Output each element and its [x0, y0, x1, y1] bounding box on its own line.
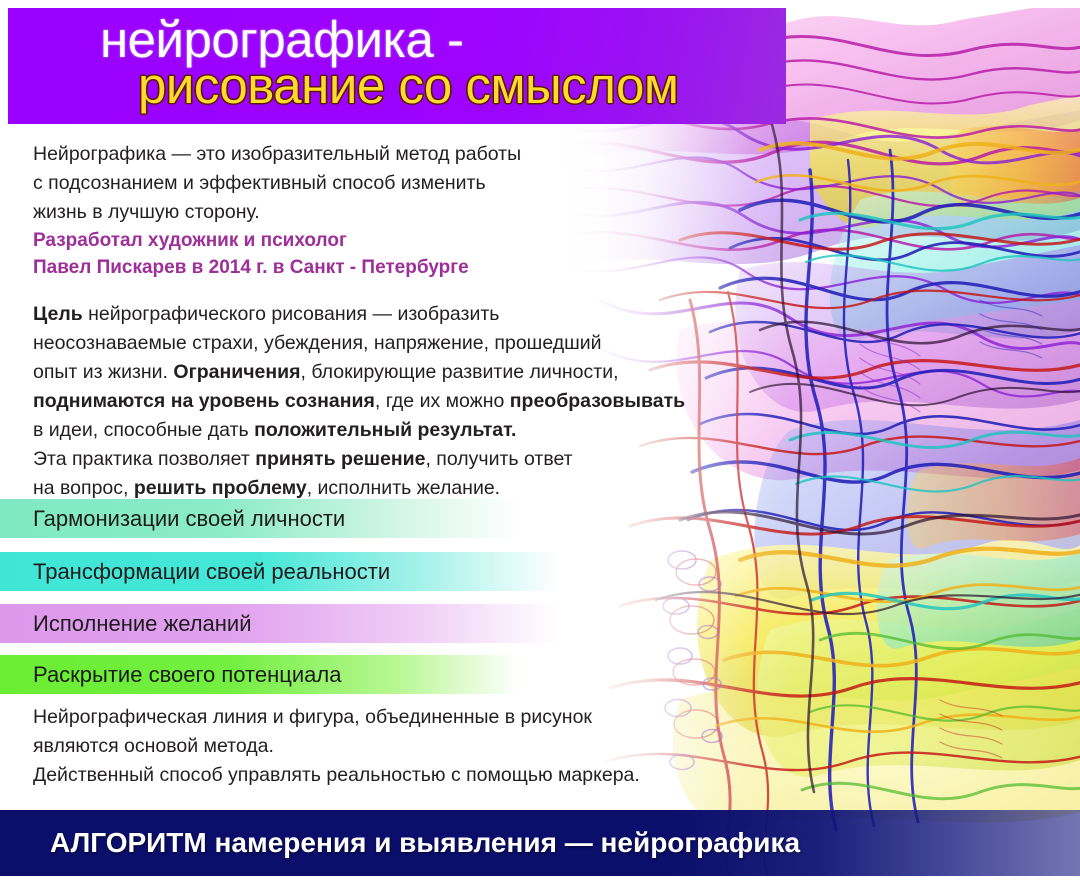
- goal-keyword-rise: поднимаются на уровень сознания: [33, 390, 375, 412]
- poster-header: нейрографика - рисование со смыслом: [8, 8, 786, 124]
- poster-footer: АЛГОРИТМ намерения и выявления — нейрогр…: [0, 810, 1080, 876]
- goal-line-3-b: , блокирующие развитие личности,: [301, 361, 619, 383]
- intro-paragraph: Нейрографика — это изобразительный метод…: [33, 140, 521, 227]
- goal-line-6-a: Эта практика позволяет: [33, 448, 255, 470]
- goal-line-6-b: , получить ответ: [425, 448, 572, 470]
- title-line-2: рисование со смыслом: [138, 56, 678, 115]
- benefit-bar-2-label: Трансформации своей реальности: [33, 561, 390, 583]
- closing-paragraph: Нейрографическая линия и фигура, объедин…: [33, 703, 640, 790]
- credit-line-2: Павел Пискарев в 2014 г. в Санкт - Петер…: [33, 254, 469, 281]
- benefit-bar-4-label: Раскрытие своего потенциала: [33, 664, 341, 686]
- benefit-bar-wishes: Исполнение желаний: [0, 604, 560, 643]
- tail-line-3: Действенный способ управлять реальностью…: [33, 761, 640, 790]
- intro-line-1: Нейрографика — это изобразительный метод…: [33, 140, 521, 169]
- intro-line-3: жизнь в лучшую сторону.: [33, 198, 521, 227]
- goal-keyword-transform: преобразовывать: [510, 390, 685, 412]
- intro-line-2: с подсознанием и эффективный способ изме…: [33, 169, 521, 198]
- goal-keyword-result: положительный результат.: [254, 419, 516, 441]
- goal-line-4: поднимаются на уровень сознания, где их …: [33, 387, 685, 416]
- top-white-strip: [0, 0, 1080, 8]
- goal-line-6: Эта практика позволяет принять решение, …: [33, 445, 685, 474]
- benefit-bar-transformation: Трансформации своей реальности: [0, 552, 560, 591]
- footer-text: АЛГОРИТМ намерения и выявления — нейрогр…: [50, 827, 800, 859]
- credit-line-1: Разработал художник и психолог: [33, 227, 469, 254]
- bottom-white-strip: [0, 876, 1080, 893]
- benefit-bar-1-label: Гармонизации своей личности: [33, 508, 345, 530]
- poster-root: нейрографика - рисование со смыслом Нейр…: [0, 0, 1080, 893]
- goal-paragraph: Цель нейрографического рисования — изобр…: [33, 300, 685, 503]
- left-white-strip: [0, 0, 8, 124]
- goal-line-3: опыт из жизни. Ограничения, блокирующие …: [33, 358, 685, 387]
- goal-line-1-rest: нейрографического рисования — изобразить: [83, 303, 500, 325]
- goal-line-4-mid: , где их можно: [375, 390, 510, 412]
- goal-line-3-a: опыт из жизни.: [33, 361, 173, 383]
- benefit-bar-harmonization: Гармонизации своей личности: [0, 499, 520, 538]
- tail-line-2: являются основой метода.: [33, 732, 640, 761]
- goal-keyword-goal: Цель: [33, 303, 83, 325]
- tail-line-1: Нейрографическая линия и фигура, объедин…: [33, 703, 640, 732]
- goal-line-1: Цель нейрографического рисования — изобр…: [33, 300, 685, 329]
- goal-line-5: в идеи, способные дать положительный рез…: [33, 416, 685, 445]
- goal-line-2: неосознаваемые страхи, убеждения, напряж…: [33, 329, 685, 358]
- goal-keyword-limits: Ограничения: [173, 361, 300, 383]
- benefit-bar-potential: Раскрытие своего потенциала: [0, 655, 520, 694]
- goal-line-5-a: в идеи, способные дать: [33, 419, 254, 441]
- goal-line-7-b: , исполнить желание.: [307, 477, 500, 499]
- author-credit: Разработал художник и психолог Павел Пис…: [33, 227, 469, 281]
- goal-line-7-a: на вопрос,: [33, 477, 134, 499]
- benefit-bar-3-label: Исполнение желаний: [33, 613, 252, 635]
- goal-keyword-problem: решить проблему: [134, 477, 307, 499]
- goal-keyword-decision: принять решение: [255, 448, 425, 470]
